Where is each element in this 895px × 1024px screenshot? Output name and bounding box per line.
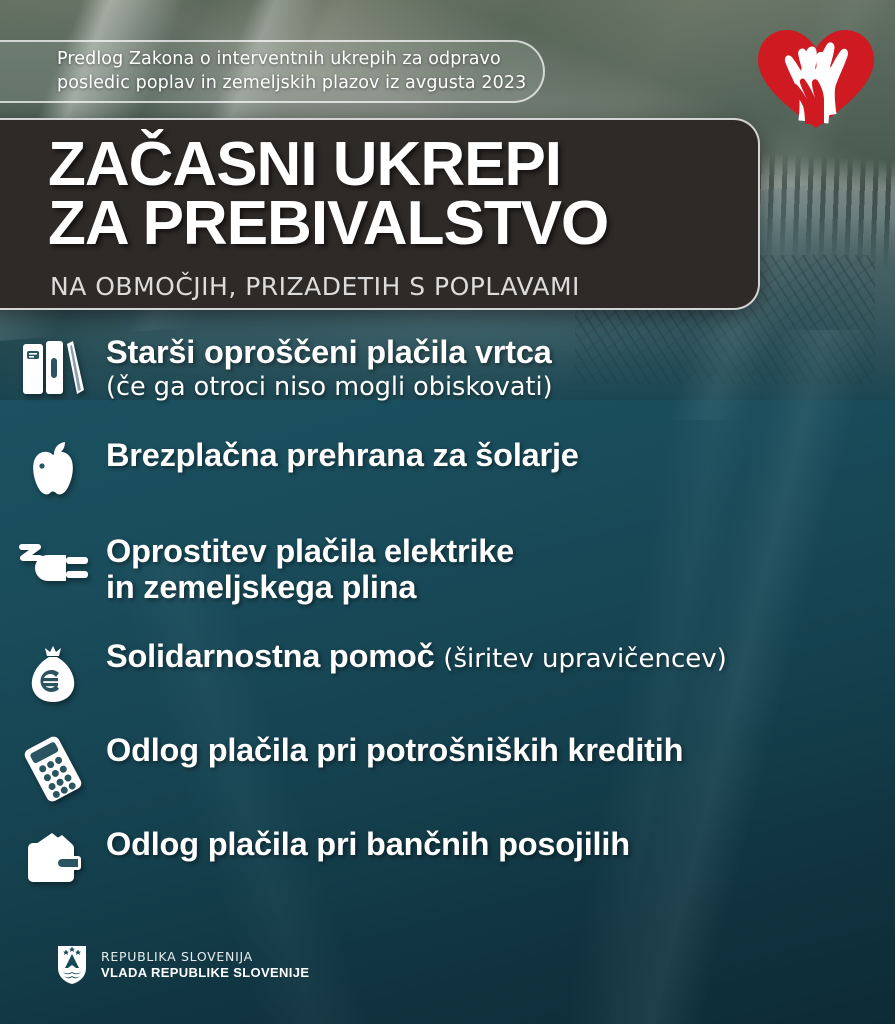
government-label: REPUBLIKA SLOVENIJA VLADA REPUBLIKE SLOV… xyxy=(101,950,309,980)
page-title: ZAČASNI UKREPI ZA PREBIVALSTVO xyxy=(48,136,728,254)
list-item-title: Odlog plačila pri potrošniških kreditih xyxy=(106,732,683,768)
list-item-title: Brezplačna prehrana za šolarje xyxy=(106,437,579,473)
list-item: Starši oproščeni plačila vrtca (če ga ot… xyxy=(0,334,895,403)
list-item-title: Odlog plačila pri bančnih posojilih xyxy=(106,826,630,862)
list-item-text: Odlog plačila pri potrošniških kreditih xyxy=(106,732,683,768)
list-item: Oprostitev plačila elektrike in zemeljsk… xyxy=(0,533,895,606)
power-plug-icon xyxy=(0,533,106,595)
list-item-text: Odlog plačila pri bančnih posojilih xyxy=(106,826,630,862)
eyebrow-line-2: posledic poplav in zemeljskih plazov iz … xyxy=(57,73,526,93)
money-bag-euro-icon xyxy=(0,638,106,704)
list-item-title: Solidarnostna pomoč (širitev upravičence… xyxy=(106,638,727,674)
list-item-text: Solidarnostna pomoč (širitev upravičence… xyxy=(106,638,727,674)
list-item: Odlog plačila pri bančnih posojilih xyxy=(0,826,895,886)
list-item-title-line-2: in zemeljskega plina xyxy=(106,569,514,605)
wallet-icon xyxy=(0,826,106,886)
list-item-text: Brezplačna prehrana za šolarje xyxy=(106,437,579,473)
title-line-2: ZA PREBIVALSTVO xyxy=(48,195,728,254)
list-item-title: Starši oproščeni plačila vrtca xyxy=(106,334,553,370)
list-item-note: (širitev upravičencev) xyxy=(443,644,726,674)
list-item: Solidarnostna pomoč (širitev upravičence… xyxy=(0,638,895,704)
list-item: Brezplačna prehrana za šolarje xyxy=(0,437,895,499)
list-item-subtitle: (če ga otroci niso mogli obiskovati) xyxy=(106,372,553,403)
eyebrow-pill: Predlog Zakona o interventnih ukrepih za… xyxy=(0,40,545,103)
page-subtitle: NA OBMOČJIH, PRIZADETIH S POPLAVAMI xyxy=(50,272,580,301)
list-item-text: Oprostitev plačila elektrike in zemeljsk… xyxy=(106,533,514,606)
slovenia-coat-of-arms-icon xyxy=(56,944,88,986)
infographic-poster: Predlog Zakona o interventnih ukrepih za… xyxy=(0,0,895,1024)
title-card: ZAČASNI UKREPI ZA PREBIVALSTVO NA OBMOČJ… xyxy=(0,118,760,310)
footer-line-1: REPUBLIKA SLOVENIJA xyxy=(101,950,309,965)
calculator-icon xyxy=(0,732,106,802)
books-icon xyxy=(0,334,106,396)
footer-line-2: VLADA REPUBLIKE SLOVENIJE xyxy=(101,965,309,980)
government-footer: REPUBLIKA SLOVENIJA VLADA REPUBLIKE SLOV… xyxy=(56,944,309,986)
eyebrow-line-1: Predlog Zakona o interventnih ukrepih za… xyxy=(57,49,501,69)
list-item-title-main: Solidarnostna pomoč xyxy=(106,638,434,674)
apple-icon xyxy=(0,437,106,499)
list-item-title: Oprostitev plačila elektrike xyxy=(106,533,514,569)
list-item-text: Starši oproščeni plačila vrtca (če ga ot… xyxy=(106,334,553,403)
list-item: Odlog plačila pri potrošniških kreditih xyxy=(0,732,895,802)
eyebrow-text: Predlog Zakona o interventnih ukrepih za… xyxy=(57,48,526,94)
measures-list: Starši oproščeni plačila vrtca (če ga ot… xyxy=(0,334,895,886)
heart-with-hands-icon xyxy=(752,24,880,134)
